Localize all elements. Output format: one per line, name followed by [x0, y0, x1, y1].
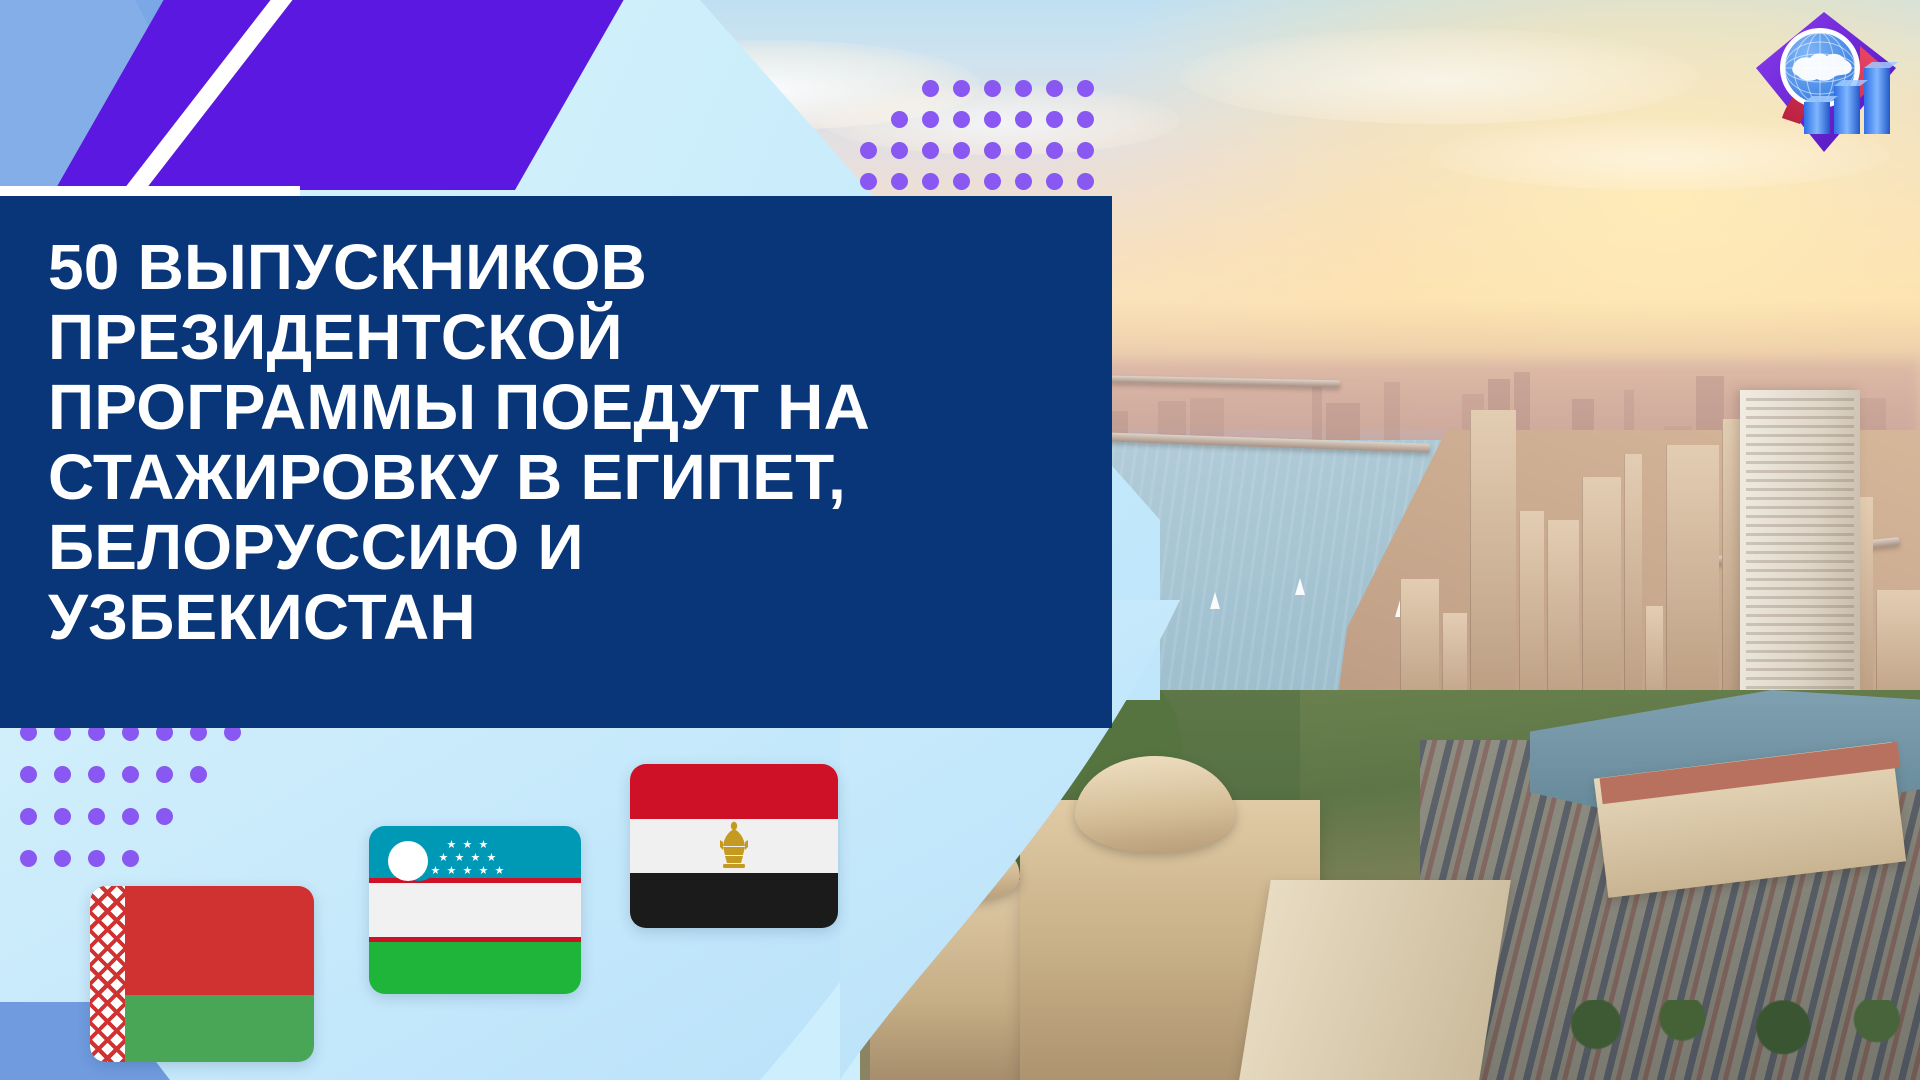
- decorative-dot: [54, 850, 71, 867]
- decorative-dot: [984, 142, 1001, 159]
- palm-trees: [1560, 1000, 1920, 1080]
- uzbekistan-green-stripe: [369, 942, 581, 994]
- decorative-dot: [156, 808, 173, 825]
- star-icon: ★: [430, 865, 440, 876]
- decorative-dot: [122, 850, 139, 867]
- sailboat: [1295, 578, 1305, 595]
- decorative-dot: [984, 111, 1001, 128]
- riverside-building: [1624, 454, 1642, 720]
- decorative-dot: [984, 80, 1001, 97]
- decorative-dot: [1015, 111, 1032, 128]
- decorative-dot: [1046, 111, 1063, 128]
- sailboat: [1210, 592, 1220, 609]
- star-icon: ★: [486, 852, 496, 863]
- decorative-dot: [20, 766, 37, 783]
- uzbekistan-stars: ★★★★★★★★★★★★: [430, 839, 561, 879]
- decorative-dot: [1077, 111, 1094, 128]
- star-icon: ★: [478, 839, 488, 850]
- decorative-dot: [1077, 173, 1094, 190]
- decorative-dot: [54, 808, 71, 825]
- decorative-dot: [922, 173, 939, 190]
- decorative-dot: [1077, 142, 1094, 159]
- belarus-ornament: [90, 886, 125, 1062]
- flag-uzbekistan-icon: ★★★★★★★★★★★★: [369, 826, 581, 994]
- star-icon: ★: [462, 865, 472, 876]
- riverside-building: [1666, 445, 1719, 720]
- long-building: [1239, 880, 1511, 1080]
- page-title-line: ПРОГРАММЫ ПОЕДУТ НА: [48, 372, 1058, 442]
- decorative-dot: [891, 111, 908, 128]
- egypt-black-stripe: [630, 873, 838, 928]
- star-icon: ★: [462, 839, 472, 850]
- star-icon: ★: [438, 852, 448, 863]
- decorative-dot: [1046, 142, 1063, 159]
- decorative-dot: [54, 766, 71, 783]
- decorative-dot: [953, 80, 970, 97]
- page-title-line: БЕЛОРУССИЮ И: [48, 512, 1058, 582]
- decorative-dot: [122, 808, 139, 825]
- crescent-moon-icon: [388, 841, 428, 881]
- egypt-red-stripe: [630, 764, 838, 819]
- decorative-dot: [88, 766, 105, 783]
- decorative-dot: [922, 111, 939, 128]
- page-title-line: УЗБЕКИСТАН: [48, 582, 1058, 652]
- decorative-dot: [891, 173, 908, 190]
- flag-egypt-icon: [630, 764, 838, 928]
- uzbekistan-white-stripe: [369, 883, 581, 936]
- globe-chart-logo: [1738, 6, 1904, 172]
- page-title-line: 50 ВЫПУСКНИКОВ: [48, 232, 1058, 302]
- decorative-dot: [953, 173, 970, 190]
- decorative-dot: [891, 142, 908, 159]
- decorative-dot: [860, 173, 877, 190]
- riverside-building: [1470, 410, 1516, 720]
- riverside-building: [1582, 477, 1621, 720]
- star-icon: ★: [478, 865, 488, 876]
- page-title-line: СТАЖИРОВКУ В ЕГИПЕТ,: [48, 442, 1058, 512]
- decorative-dot: [190, 766, 207, 783]
- eagle-of-saladin-icon: [714, 820, 754, 872]
- page-title: 50 ВЫПУСКНИКОВПРЕЗИДЕНТСКОЙПРОГРАММЫ ПОЕ…: [48, 232, 1058, 652]
- decorative-dot: [1077, 80, 1094, 97]
- decorative-dot: [922, 142, 939, 159]
- star-icon: ★: [494, 865, 504, 876]
- page-title-line: ПРЕЗИДЕНТСКОЙ: [48, 302, 1058, 372]
- decorative-dot: [20, 808, 37, 825]
- cloud: [1180, 28, 1700, 124]
- decorative-dot: [953, 142, 970, 159]
- decorative-dot: [1015, 173, 1032, 190]
- decorative-dot: [1046, 80, 1063, 97]
- flag-belarus-icon: [90, 886, 314, 1062]
- decorative-dot: [88, 850, 105, 867]
- decorative-dot: [953, 111, 970, 128]
- decorative-dot: [984, 173, 1001, 190]
- decorative-dot: [88, 808, 105, 825]
- decorative-dot: [1046, 173, 1063, 190]
- decorative-dot: [20, 850, 37, 867]
- high-rise-tower: [1740, 390, 1860, 720]
- star-icon: ★: [470, 852, 480, 863]
- decorative-dot: [860, 142, 877, 159]
- decorative-dot: [156, 766, 173, 783]
- riverside-building: [1519, 511, 1544, 720]
- decorative-dot: [1015, 80, 1032, 97]
- star-icon: ★: [446, 839, 456, 850]
- star-icon: ★: [454, 852, 464, 863]
- decorative-dot: [922, 80, 939, 97]
- decorative-dot: [122, 766, 139, 783]
- decorative-dot: [1015, 142, 1032, 159]
- star-icon: ★: [446, 865, 456, 876]
- poster-canvas: 50 ВЫПУСКНИКОВПРЕЗИДЕНТСКОЙПРОГРАММЫ ПОЕ…: [0, 0, 1920, 1080]
